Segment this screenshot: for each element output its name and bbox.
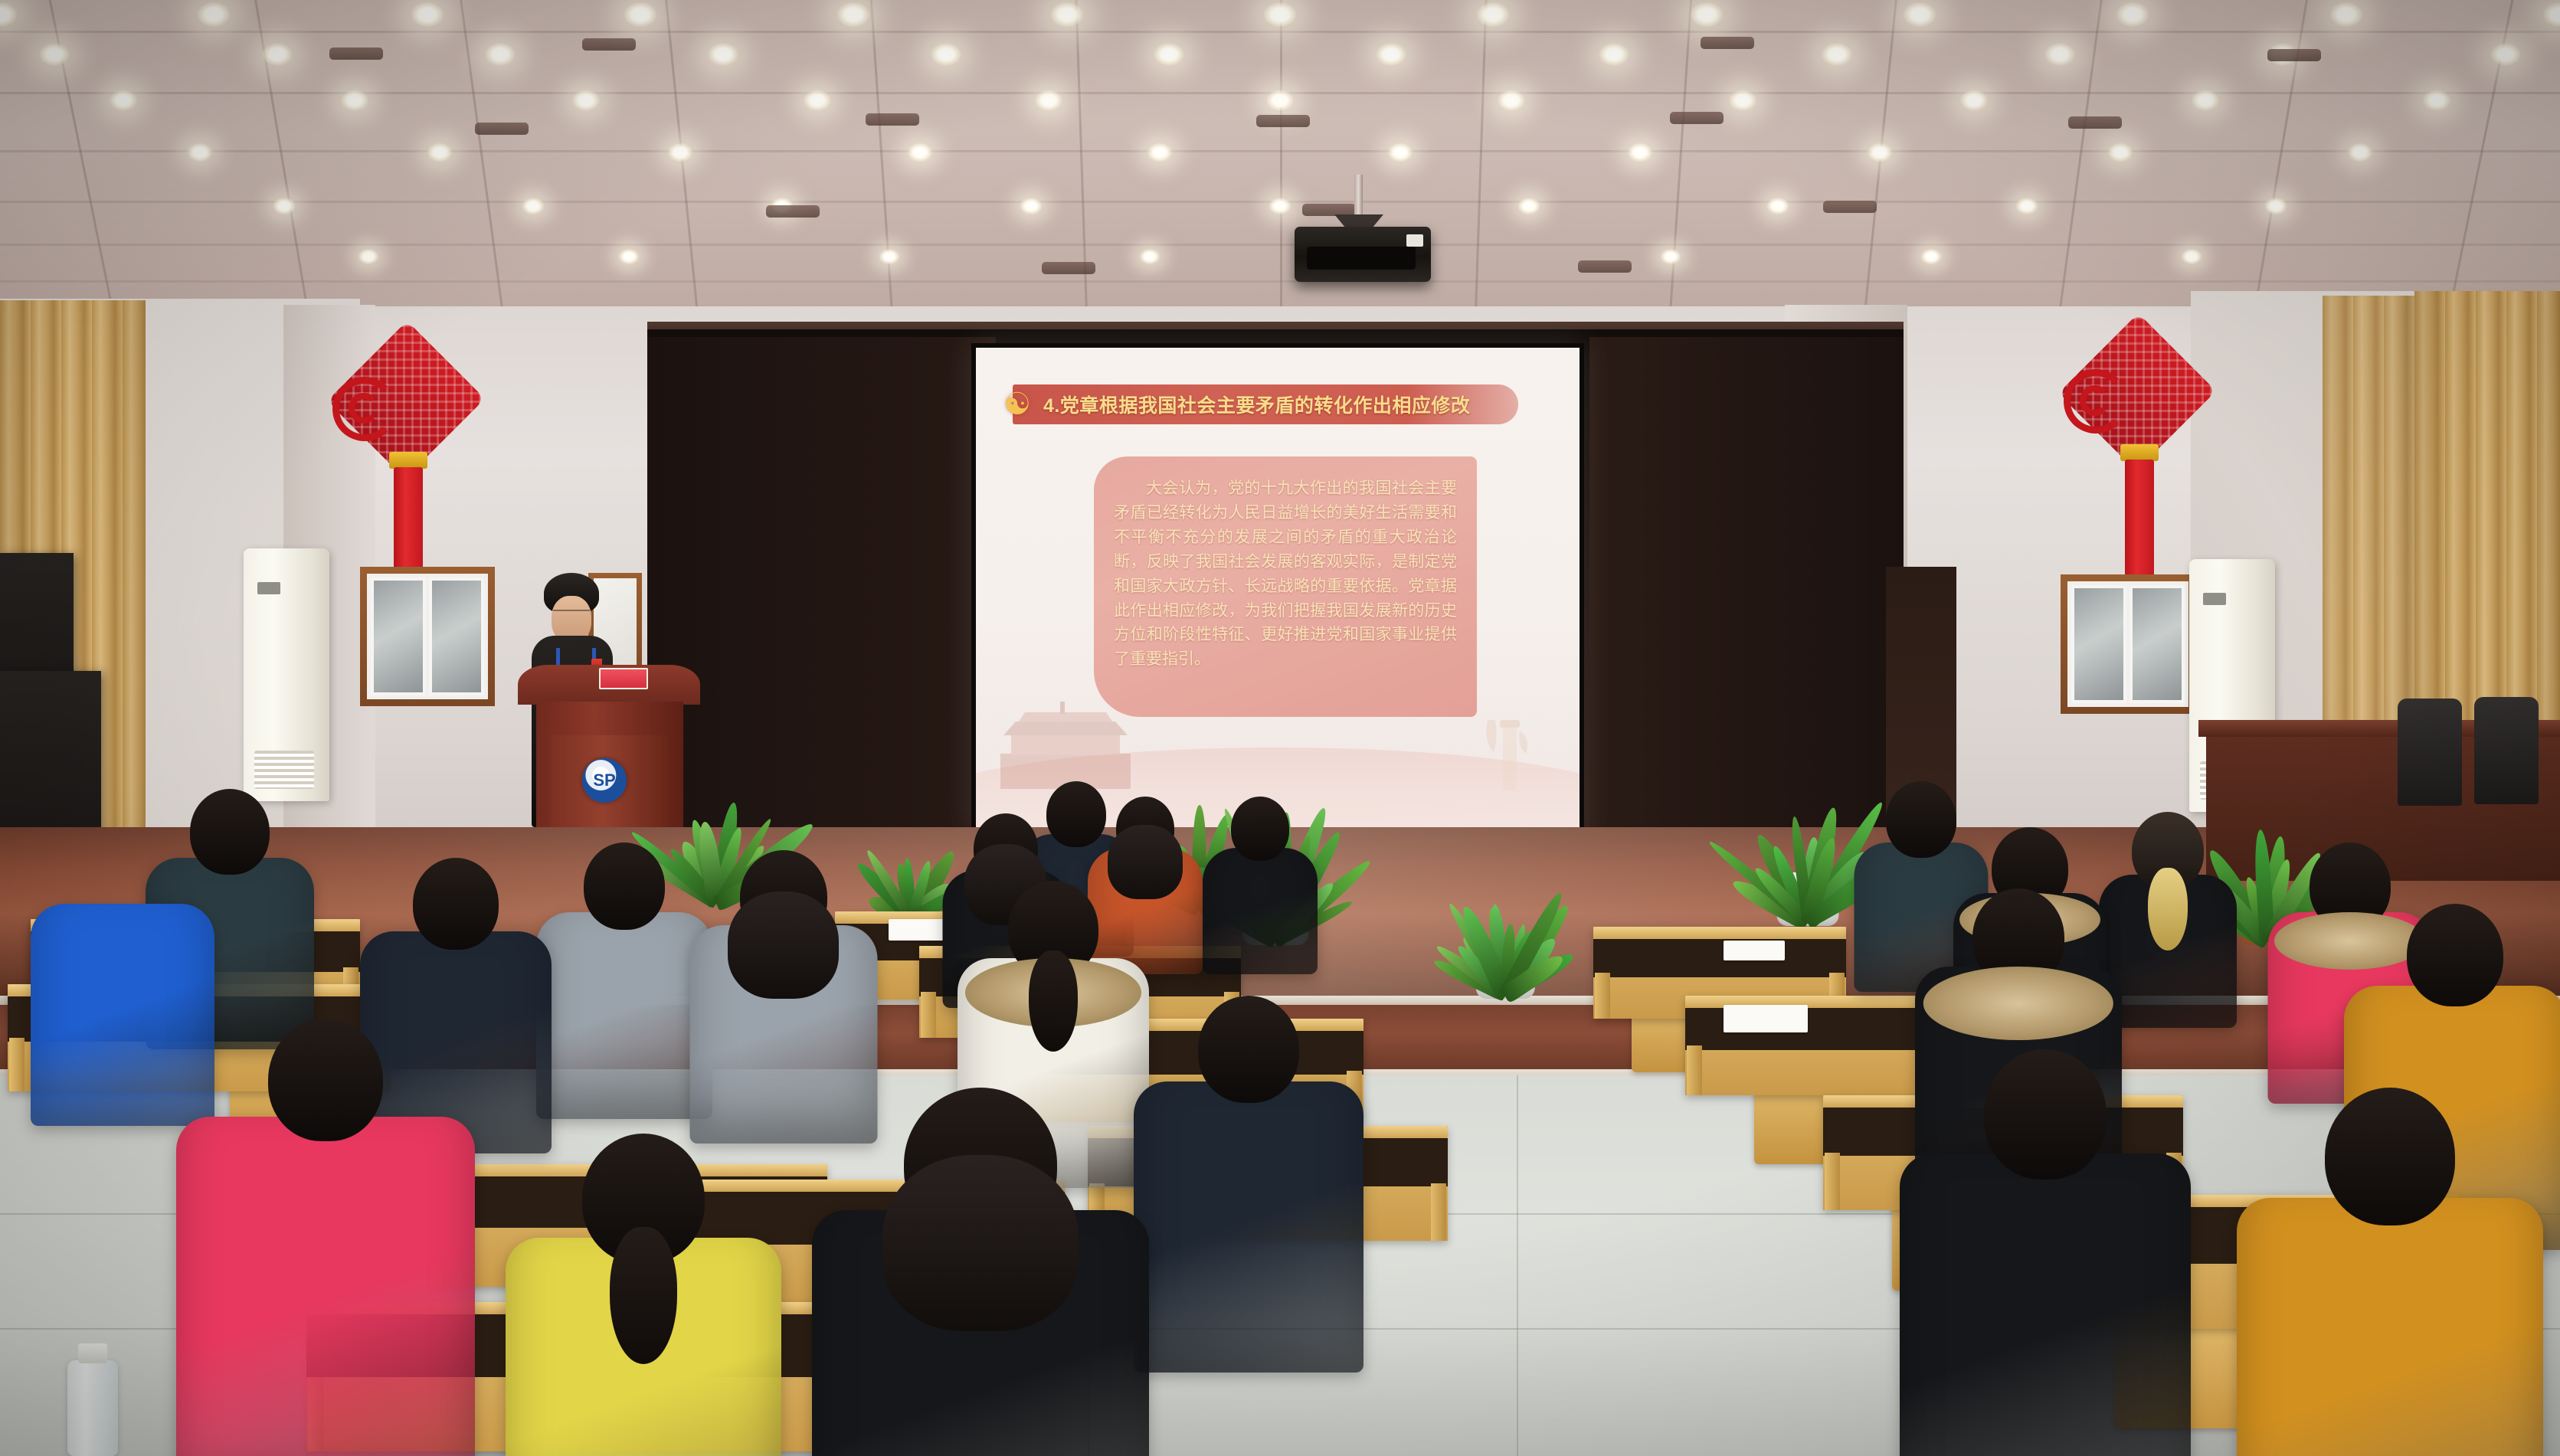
wall-window-right — [2061, 574, 2195, 714]
window-pane — [429, 577, 484, 695]
side-chair[interactable] — [2474, 697, 2539, 804]
ceiling-vent — [866, 113, 919, 126]
recessed-downlight-icon — [1154, 43, 1183, 66]
window-pane — [2130, 585, 2185, 703]
projector-pole — [1354, 175, 1363, 218]
audience-head — [190, 789, 270, 875]
recessed-downlight-icon — [273, 198, 296, 214]
podium-nameplate — [599, 668, 648, 689]
tiananmen-silhouette-graphic — [993, 700, 1138, 792]
bottle-cap — [78, 1343, 107, 1363]
side-chair[interactable] — [2398, 699, 2462, 806]
recessed-downlight-icon — [1020, 198, 1043, 214]
recessed-downlight-icon — [1904, 2, 1936, 28]
audience-head — [413, 858, 499, 950]
slide-title-text: 4.党章根据我国社会主要矛盾的转化作出相应修改 — [1043, 391, 1470, 418]
recessed-downlight-icon — [2192, 90, 2219, 110]
recessed-downlight-icon — [1269, 198, 1291, 214]
party-hammer-sickle-icon: ☯ — [999, 388, 1036, 423]
water-bottle[interactable] — [67, 1360, 118, 1456]
recessed-downlight-icon — [485, 43, 515, 66]
recessed-downlight-icon — [1266, 90, 1294, 110]
audience-head — [1886, 781, 1956, 858]
recessed-downlight-icon — [1264, 2, 1297, 28]
audience-ponytail — [610, 1227, 677, 1364]
desk-top — [1593, 927, 1846, 939]
audience-jacket — [1900, 1153, 2191, 1456]
knot-gold-band — [389, 452, 427, 469]
recessed-downlight-icon — [1822, 43, 1852, 66]
handout-paper[interactable] — [1724, 941, 1785, 960]
ceiling — [0, 0, 2560, 329]
knot-tassel — [2125, 460, 2154, 576]
projector-label-sticker — [1406, 234, 1423, 247]
floor-seam-vertical — [1517, 1075, 1518, 1456]
presenter-glasses — [553, 610, 590, 620]
desk-leg — [9, 1038, 25, 1091]
audience-jacket — [2237, 1198, 2543, 1456]
stage-backdrop-left — [647, 337, 996, 827]
audience-ponytail — [2148, 868, 2188, 950]
recessed-downlight-icon — [188, 143, 212, 162]
audience-jacket — [1134, 1081, 1363, 1373]
window-pane — [371, 577, 426, 695]
recessed-downlight-icon — [2045, 43, 2075, 66]
audience-member — [1134, 996, 1363, 1394]
ceiling-vent — [475, 123, 529, 135]
recessed-downlight-icon — [358, 249, 379, 264]
audience-member — [506, 1134, 781, 1456]
audience-member — [1203, 797, 1318, 987]
conference-hall-photo: JBL ☯ 4.党章根据我国社会主要矛盾的转化作出相应修改 — [0, 0, 2560, 1456]
recessed-downlight-icon — [2182, 249, 2202, 264]
recessed-downlight-icon — [572, 90, 600, 110]
recessed-downlight-icon — [804, 90, 831, 110]
audience-head — [268, 1019, 383, 1141]
potted-plant — [1440, 877, 1570, 996]
recessed-downlight-icon — [1035, 90, 1062, 110]
desk-undershelf — [1593, 939, 1846, 977]
recessed-downlight-icon — [619, 249, 640, 264]
audience-jacket — [536, 912, 712, 1119]
recessed-downlight-icon — [1050, 2, 1083, 28]
slide-body-text: 大会认为，党的十九大作出的我国社会主要矛盾已经转化为人民日益增长的美好生活需要和… — [1114, 476, 1457, 672]
recessed-downlight-icon — [1729, 90, 1756, 110]
ceiling-vent — [1042, 262, 1095, 274]
recessed-downlight-icon — [1661, 249, 1681, 264]
handout-paper[interactable] — [1724, 1005, 1808, 1032]
chinese-knot-icon — [337, 337, 475, 590]
ceiling-tile-grid — [0, 0, 2560, 329]
desk-leg — [921, 992, 936, 1038]
recessed-downlight-icon — [2348, 143, 2372, 162]
desk-leg — [1687, 1045, 1702, 1095]
screen-surface: ☯ 4.党章根据我国社会主要矛盾的转化作出相应修改 大会认为，党的十九大作出的我… — [976, 348, 1580, 832]
recessed-downlight-icon — [2490, 43, 2520, 66]
recessed-downlight-icon — [2108, 143, 2133, 162]
recessed-downlight-icon — [522, 198, 545, 214]
window-glass — [2067, 581, 2188, 707]
stage-backdrop-right — [1589, 337, 1904, 827]
cabinet-air-conditioner-icon-left — [244, 548, 329, 801]
audience-head — [2325, 1088, 2455, 1225]
recessed-downlight-icon — [931, 43, 961, 66]
recessed-downlight-icon — [1628, 143, 1652, 162]
recessed-downlight-icon — [1690, 2, 1723, 28]
recessed-downlight-icon — [39, 43, 69, 66]
recessed-downlight-icon — [1767, 198, 1789, 214]
recessed-downlight-icon — [2265, 198, 2287, 214]
recessed-downlight-icon — [708, 43, 738, 66]
recessed-downlight-icon — [110, 90, 137, 110]
projection-screen: ☯ 4.党章根据我国社会主要矛盾的转化作出相应修改 大会认为，党的十九大作出的我… — [971, 343, 1584, 836]
ceiling-vent — [582, 38, 636, 51]
audience-head — [584, 843, 665, 930]
desk-leg — [1431, 1183, 1446, 1241]
ceiling-vent — [1701, 37, 1754, 49]
recessed-downlight-icon — [879, 249, 900, 264]
recessed-downlight-icon — [1140, 249, 1161, 264]
audience-jacket — [1203, 848, 1318, 974]
audience-member — [536, 843, 712, 1137]
audience-head — [1231, 797, 1289, 861]
audience-head — [1198, 996, 1299, 1103]
desk-leg — [1595, 973, 1610, 1019]
ceiling-vent — [1302, 204, 1356, 216]
recessed-downlight-icon — [668, 143, 692, 162]
knot-gold-band — [2120, 444, 2159, 461]
audience-head — [1984, 1049, 2107, 1180]
recessed-downlight-icon — [341, 90, 368, 110]
recessed-downlight-icon — [262, 43, 292, 66]
recessed-downlight-icon — [411, 2, 444, 28]
knot-swirl — [2064, 369, 2128, 434]
audience-ponytail — [1029, 950, 1079, 1052]
ceiling-vent — [2068, 116, 2122, 129]
recessed-downlight-icon — [1518, 198, 1540, 214]
window-glass — [367, 574, 488, 699]
recessed-downlight-icon — [2016, 198, 2038, 214]
ceiling-vent — [1256, 115, 1310, 127]
wall-window-left — [360, 567, 495, 706]
slide-title-bar: ☯ 4.党章根据我国社会主要矛盾的转化作出相应修改 — [1013, 384, 1518, 424]
audience-head — [2407, 904, 2503, 1006]
audience-member — [176, 1019, 475, 1456]
audience-long-hair — [882, 1155, 1079, 1331]
recessed-downlight-icon — [1388, 143, 1413, 162]
audience-member — [2237, 1088, 2543, 1456]
ceiling-vent — [766, 205, 820, 218]
slide-body-panel: 大会认为，党的十九大作出的我国社会主要矛盾已经转化为人民日益增长的美好生活需要和… — [1094, 456, 1477, 717]
fur-hood-collar — [1923, 967, 2113, 1040]
desk-leg — [1825, 1153, 1840, 1210]
knot-swirl — [332, 377, 397, 441]
recessed-downlight-icon — [1921, 249, 1942, 264]
ceiling-vent — [1670, 112, 1724, 124]
ceiling-vent — [1823, 201, 1877, 213]
ceiling-vent — [329, 47, 383, 60]
recessed-downlight-icon — [908, 143, 932, 162]
recessed-downlight-icon — [2423, 90, 2450, 110]
audience-member — [812, 1088, 1149, 1456]
audience-long-hair — [728, 892, 840, 999]
ceiling-vent — [1578, 260, 1632, 273]
audience-member — [1900, 1049, 2191, 1456]
window-pane — [2071, 585, 2126, 703]
podium-emblem: SP — [582, 758, 627, 803]
recessed-downlight-icon — [2329, 2, 2362, 28]
ceiling-vent — [2267, 49, 2321, 61]
chinese-knot-icon-right — [2068, 329, 2206, 582]
recessed-downlight-icon — [1498, 90, 1525, 110]
recessed-downlight-icon — [624, 2, 657, 28]
recessed-downlight-icon — [1960, 90, 1988, 110]
audience-jacket — [176, 1117, 475, 1456]
ribbon-column-graphic — [1481, 708, 1535, 800]
